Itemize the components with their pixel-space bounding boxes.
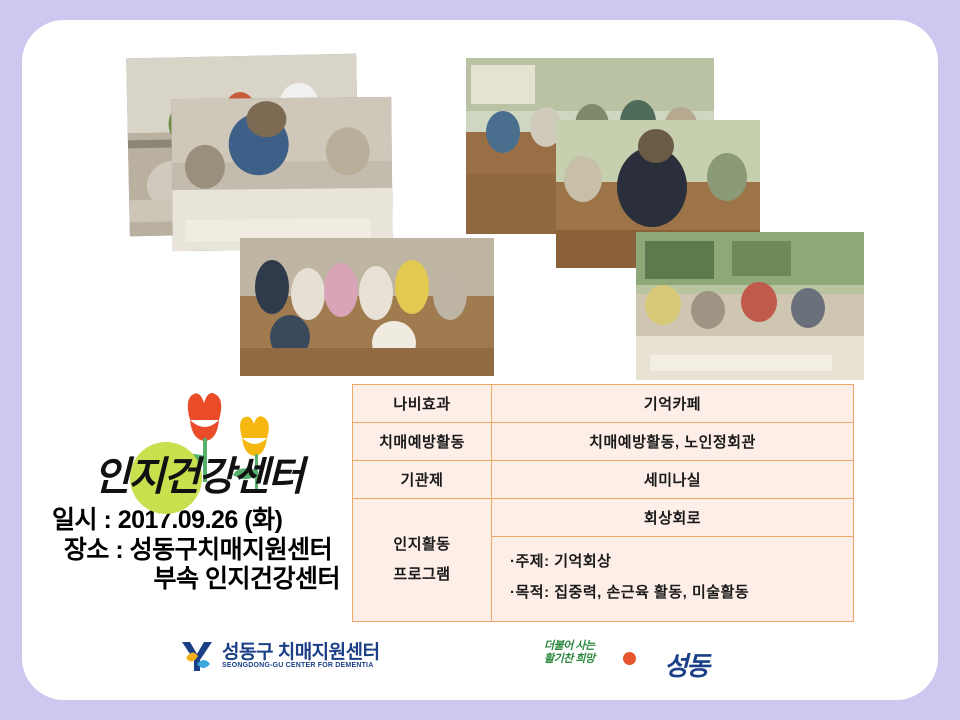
district-logo-dot-icon (623, 652, 636, 665)
footer-logos: 성동구 치매지원센터 SEONGDONG-GU CENTER FOR DEMEN… (0, 636, 960, 698)
center-mark-icon (180, 638, 214, 674)
program-info-table: 나비효과 기억카페 치매예방활동 치매예방활동, 노인정회관 기관제 세미나실 … (352, 384, 854, 622)
center-logo-text: 성동구 치매지원센터 SEONGDONG-GU CENTER FOR DEMEN… (222, 643, 380, 670)
photo-classroom-session (636, 232, 864, 380)
table-row: 인지활동 프로그램 회상회로 (353, 499, 854, 537)
row-label-program-name: 나비효과 (353, 385, 492, 423)
center-name-en: SEONGDONG-GU CENTER FOR DEMENTIA (222, 662, 380, 669)
district-tagline: 더불어 사는 활기찬 희망 (544, 640, 595, 665)
center-name-ko: 성동구 치매지원센터 (222, 643, 380, 663)
row-value-activity: 치매예방활동, 노인정회관 (492, 423, 854, 461)
table-row: 치매예방활동 치매예방활동, 노인정회관 (353, 423, 854, 461)
center-logo: 인지건강센터 (42, 398, 354, 506)
row-value-session-title: 회상회로 (492, 499, 854, 537)
photo-dance-activity (240, 238, 494, 376)
event-date-line: 일시 : 2017.09.26 (화) (42, 506, 354, 536)
district-tagline-line-2: 활기찬 희망 (544, 653, 595, 666)
event-place-line-2: 부속 인지건강센터 (42, 565, 354, 595)
row-label-activity: 치매예방활동 (353, 423, 492, 461)
seongdong-district-logo: 더불어 사는 활기찬 희망 성동 (540, 636, 710, 690)
seongdong-dementia-center-logo: 성동구 치매지원센터 SEONGDONG-GU CENTER FOR DEMEN… (180, 638, 380, 674)
row-label-line-1: 인지활동 (357, 530, 487, 560)
photo-craft-table-2 (171, 97, 393, 251)
detail-bullet-topic: ·주제: 기억회상 (510, 547, 847, 578)
slide-canvas: 인지건강센터 일시 : 2017.09.26 (화) 장소 : 성동구치매지원센… (0, 0, 960, 720)
row-label-cognitive-program: 인지활동 프로그램 (353, 499, 492, 622)
row-value-session-details: ·주제: 기억회상 ·목적: 집중력, 손근육 활동, 미술활동 (492, 537, 854, 622)
row-value-place: 세미나실 (492, 461, 854, 499)
row-value-program-name: 기억카페 (492, 385, 854, 423)
logo-wordmark: 인지건강센터 (42, 444, 354, 502)
district-wordmark: 성동 (664, 646, 708, 683)
district-tagline-line-1: 더불어 사는 (544, 640, 595, 653)
table-row: 나비효과 기억카페 (353, 385, 854, 423)
detail-bullet-purpose: ·목적: 집중력, 손근육 활동, 미술활동 (510, 578, 847, 609)
event-place-line-1: 장소 : 성동구치매지원센터 (42, 536, 354, 566)
table-row: 기관제 세미나실 (353, 461, 854, 499)
row-label-line-2: 프로그램 (357, 560, 487, 590)
row-label-place: 기관제 (353, 461, 492, 499)
title-block: 인지건강센터 일시 : 2017.09.26 (화) 장소 : 성동구치매지원센… (42, 398, 354, 595)
